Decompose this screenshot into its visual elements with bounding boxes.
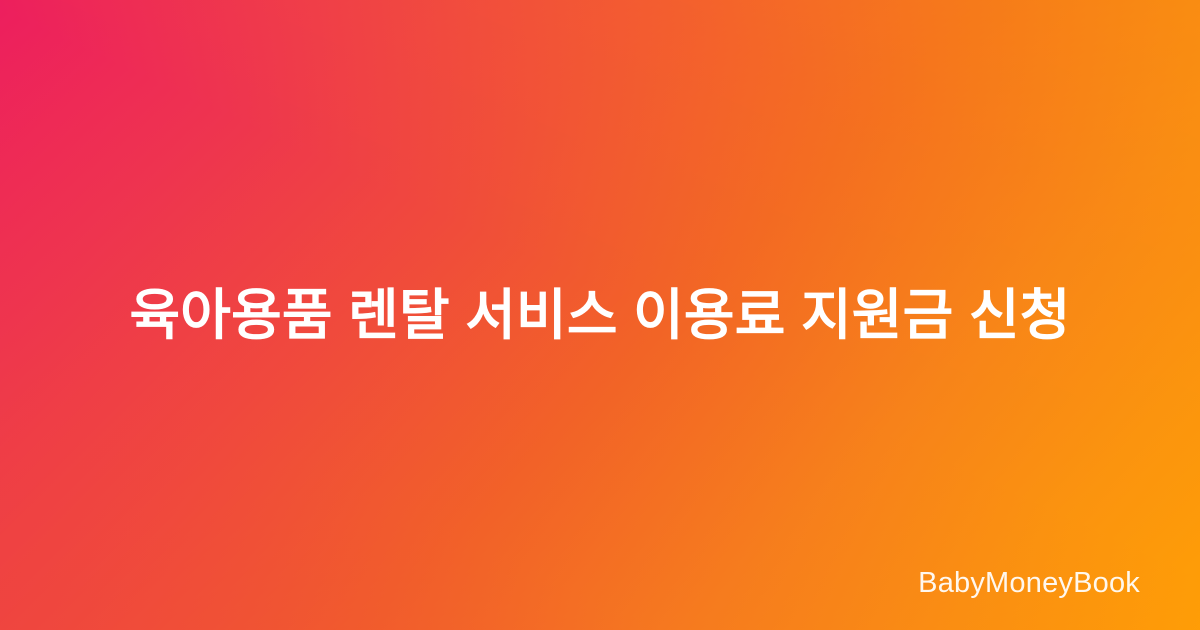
card-content: 육아용품 렌탈 서비스 이용료 지원금 신청 [0, 0, 1200, 630]
brand-watermark: BabyMoneyBook [918, 569, 1140, 598]
share-card: 육아용품 렌탈 서비스 이용료 지원금 신청 BabyMoneyBook [0, 0, 1200, 630]
page-title: 육아용품 렌탈 서비스 이용료 지원금 신청 [0, 280, 1200, 350]
